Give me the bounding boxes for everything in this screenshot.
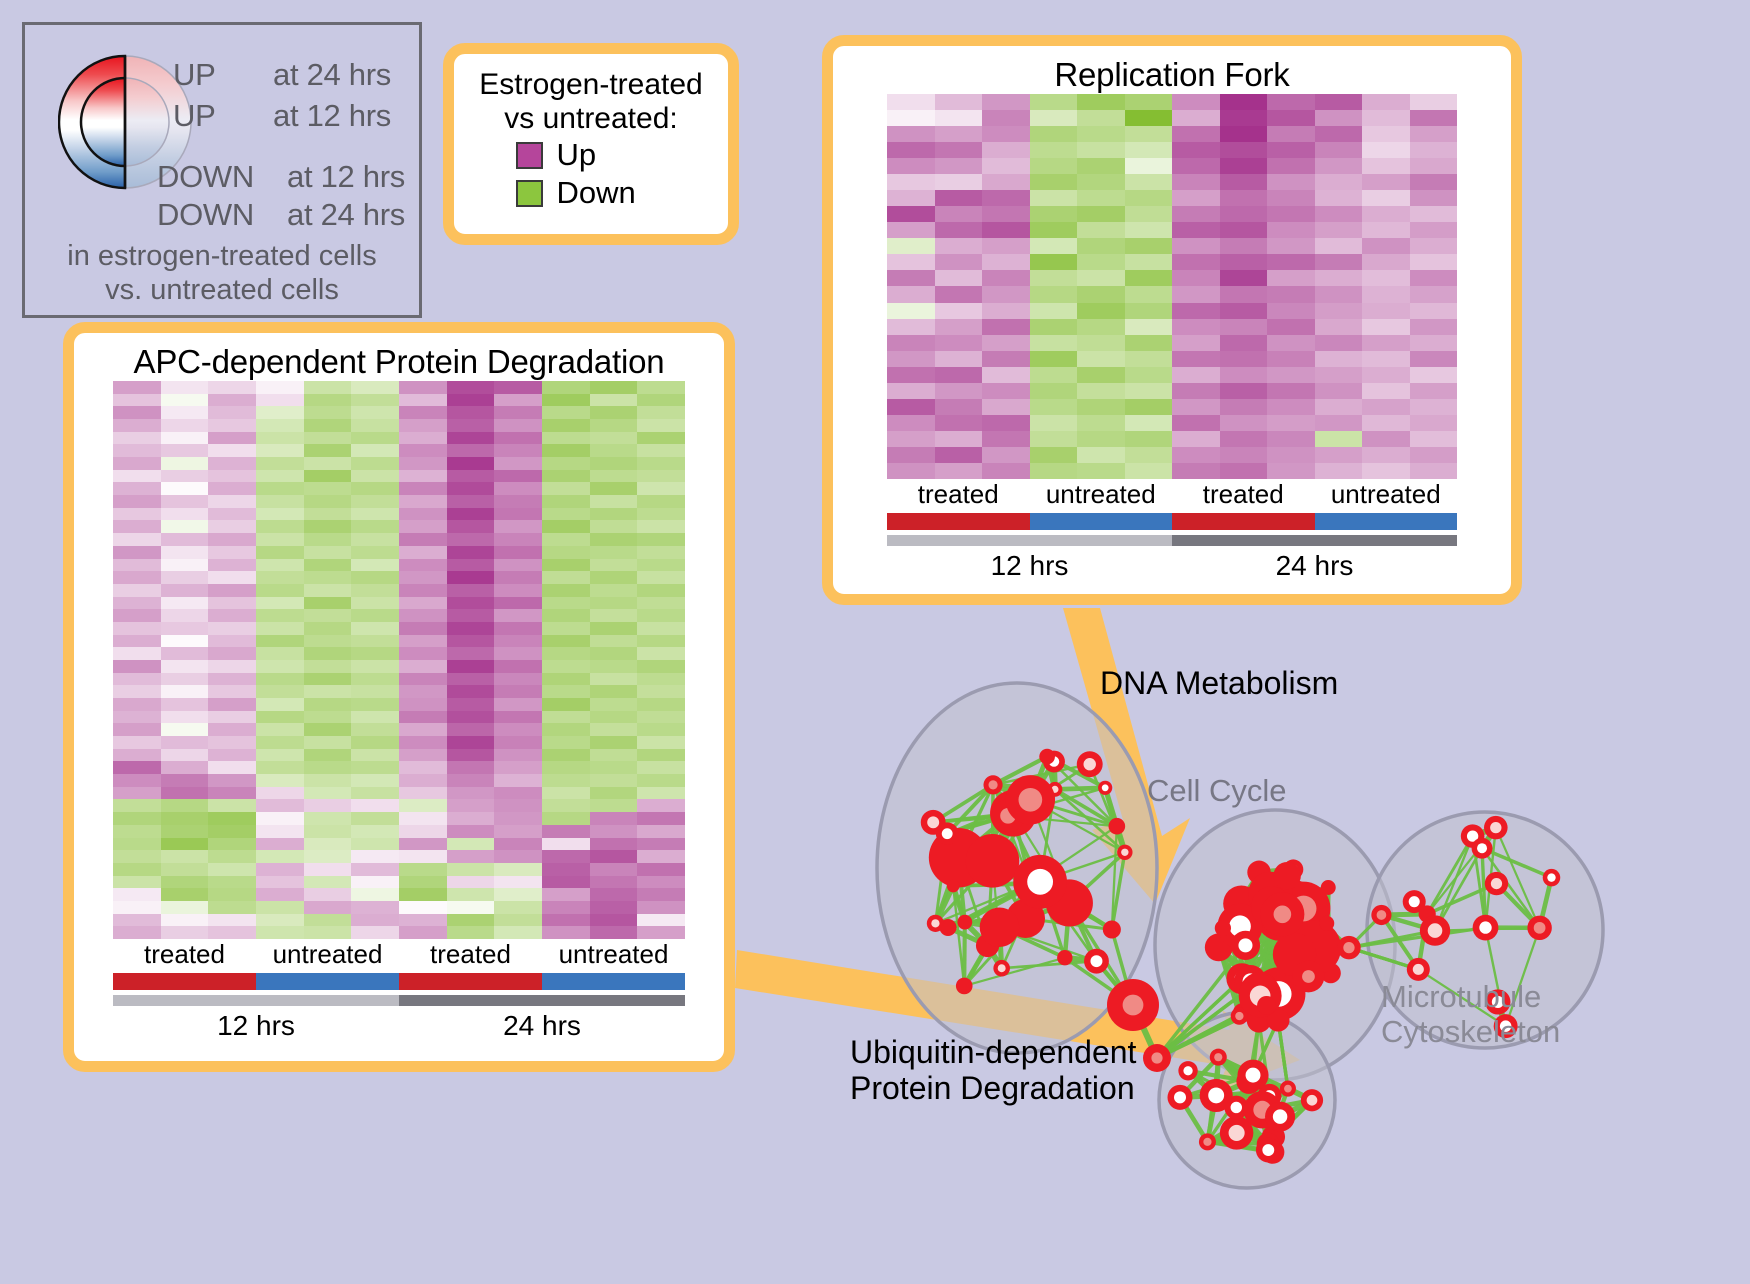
- heatmap-cell: [590, 444, 638, 457]
- heatmap-cell: [542, 571, 590, 584]
- heatmap-cell: [351, 660, 399, 673]
- heatmap-cell: [304, 546, 352, 559]
- heatmap-cell: [1077, 431, 1125, 447]
- heatmap-cell: [590, 711, 638, 724]
- legend-item-up: Up: [454, 137, 728, 173]
- heatmap-cell: [1220, 158, 1268, 174]
- heatmap-cell: [1267, 94, 1315, 110]
- heatmap-cell: [447, 761, 495, 774]
- heatmap-cell: [590, 736, 638, 749]
- heatmap-cell: [1267, 447, 1315, 463]
- heatmap-cell: [935, 190, 983, 206]
- heatmap-cell: [637, 394, 685, 407]
- heatmap-cell: [351, 799, 399, 812]
- heatmap-cell: [1315, 142, 1363, 158]
- heatmap-cell: [113, 749, 161, 762]
- heatmap-cell: [494, 609, 542, 622]
- heatmap-cell: [1362, 238, 1410, 254]
- heatmap-cell: [1172, 415, 1220, 431]
- heatmap-cell: [1315, 303, 1363, 319]
- heatmap-cell: [1125, 367, 1173, 383]
- time-label: 24 hrs: [399, 1010, 685, 1042]
- group-label: untreated: [542, 939, 685, 970]
- heatmap-cell: [1410, 351, 1458, 367]
- heatmap-cell: [494, 520, 542, 533]
- heatmap-cell: [982, 206, 1030, 222]
- heatmap-cell: [399, 457, 447, 470]
- heatmap-cell: [982, 174, 1030, 190]
- heatmap-cell: [351, 495, 399, 508]
- heatmap-cell: [637, 622, 685, 635]
- heatmap-cell: [1172, 463, 1220, 479]
- heatmap-cell: [351, 850, 399, 863]
- heatmap-cell: [590, 926, 638, 939]
- heatmap-cell: [351, 470, 399, 483]
- heatmap-cell: [1315, 319, 1363, 335]
- heatmap-cell: [1267, 206, 1315, 222]
- heatmap-cell: [304, 635, 352, 648]
- heatmap-cell: [161, 926, 209, 939]
- group-label: untreated: [256, 939, 399, 970]
- heatmap-cell: [542, 394, 590, 407]
- heatmap-cell: [590, 394, 638, 407]
- heatmap-cell: [935, 158, 983, 174]
- heatmap-cell: [887, 351, 935, 367]
- heatmap-cell: [1410, 158, 1458, 174]
- heatmap-cell: [351, 926, 399, 939]
- heatmap-cell: [590, 825, 638, 838]
- heatmap-cell: [590, 432, 638, 445]
- heatmap-cell: [494, 406, 542, 419]
- heatmap-cell: [399, 685, 447, 698]
- heatmap-cell: [1125, 351, 1173, 367]
- heatmap-cell: [1030, 383, 1078, 399]
- heatmap-cell: [637, 673, 685, 686]
- heatmap-cell: [304, 381, 352, 394]
- heatmap-cell: [447, 571, 495, 584]
- heatmap-cell: [542, 508, 590, 521]
- heatmap-cell: [399, 876, 447, 889]
- cluster-label-microtubule-cytoskeleton: Microtubule Cytoskeleton: [1381, 980, 1560, 1049]
- heatmap-cell: [113, 926, 161, 939]
- heatmap-cell: [637, 559, 685, 572]
- heatmap-cell: [1315, 206, 1363, 222]
- heatmap-cell: [542, 584, 590, 597]
- heatmap-cell: [256, 838, 304, 851]
- heatmap-cell: [1172, 142, 1220, 158]
- heatmap-cell: [161, 888, 209, 901]
- heatmap-cell: [208, 774, 256, 787]
- heatmap-cell: [542, 381, 590, 394]
- heatmap-cell: [542, 457, 590, 470]
- heatmap-cell: [208, 901, 256, 914]
- heatmap-cell: [542, 520, 590, 533]
- heatmap-cell: [447, 774, 495, 787]
- heatmap-cell: [1315, 110, 1363, 126]
- heatmap-cell: [351, 381, 399, 394]
- heatmap-cell: [542, 482, 590, 495]
- heatmap-cell: [351, 394, 399, 407]
- heatmap-cell: [1172, 190, 1220, 206]
- heatmap-cell: [304, 812, 352, 825]
- ring-label-state-0: UP: [173, 57, 215, 93]
- heatmap-cell: [1125, 206, 1173, 222]
- ring-label-time-0: at 24 hrs: [273, 57, 391, 93]
- heatmap-cell: [1362, 335, 1410, 351]
- heatmap-cell: [1220, 238, 1268, 254]
- heatmap-cell: [399, 394, 447, 407]
- heatmap-cell: [494, 419, 542, 432]
- heatmap-cell: [256, 736, 304, 749]
- heatmap-cell: [1267, 222, 1315, 238]
- heatmap-cell: [208, 571, 256, 584]
- heatmap-cell: [1315, 335, 1363, 351]
- heatmap-cell: [256, 647, 304, 660]
- heatmap-cell: [256, 622, 304, 635]
- ring-label-state-3: DOWN: [157, 197, 254, 233]
- heatmap-cell: [1077, 190, 1125, 206]
- heatmap-cell: [887, 270, 935, 286]
- heatmap-cell: [399, 609, 447, 622]
- heatmap-cell: [161, 470, 209, 483]
- heatmap-cell: [161, 571, 209, 584]
- heatmap-cell: [399, 863, 447, 876]
- heatmap-cell: [494, 673, 542, 686]
- heatmap-cell: [1315, 222, 1363, 238]
- heatmap-cell: [982, 222, 1030, 238]
- heatmap-cell: [1030, 126, 1078, 142]
- ring-label-time-1: at 12 hrs: [273, 98, 391, 134]
- heatmap-cell: [542, 876, 590, 889]
- heatmap-cell: [304, 470, 352, 483]
- heatmap-cell: [161, 546, 209, 559]
- heatmap-cell: [887, 110, 935, 126]
- heatmap-cell: [1362, 206, 1410, 222]
- heatmap-cell: [161, 685, 209, 698]
- heatmap-cell: [542, 838, 590, 851]
- heatmap-cell: [447, 901, 495, 914]
- heatmap-cell: [1077, 447, 1125, 463]
- heatmap-cell: [637, 597, 685, 610]
- heatmap-cell: [887, 158, 935, 174]
- heatmap-cell: [1220, 351, 1268, 367]
- heatmap-cell: [113, 597, 161, 610]
- heatmap-cell: [1077, 110, 1125, 126]
- heatmap-cell: [1172, 399, 1220, 415]
- heatmap-cell: [887, 190, 935, 206]
- heatmap-cell: [935, 270, 983, 286]
- heatmap-cell: [1410, 126, 1458, 142]
- heatmap-cell: [1172, 238, 1220, 254]
- heatmap-cell: [304, 457, 352, 470]
- heatmap-cell: [1030, 110, 1078, 126]
- heatmap-cell: [304, 850, 352, 863]
- heatmap-cell: [447, 622, 495, 635]
- heatmap-cell: [399, 698, 447, 711]
- heatmap-cell: [447, 736, 495, 749]
- heatmap-cell: [256, 432, 304, 445]
- heatmap-cell: [982, 126, 1030, 142]
- heatmap-cell: [935, 142, 983, 158]
- heatmap-cell: [637, 749, 685, 762]
- heatmap-cell: [447, 432, 495, 445]
- time-color-bar: [399, 995, 685, 1006]
- heatmap-cell: [935, 335, 983, 351]
- heatmap-cell: [1220, 174, 1268, 190]
- heatmap-cell: [1220, 94, 1268, 110]
- heatmap-cell: [494, 482, 542, 495]
- heatmap-cell: [1315, 270, 1363, 286]
- heatmap-cell: [887, 238, 935, 254]
- heatmap-cell: [351, 901, 399, 914]
- heatmap-cell: [208, 914, 256, 927]
- heatmap-cell: [351, 825, 399, 838]
- heatmap-cell: [887, 174, 935, 190]
- heatmap-cell: [542, 635, 590, 648]
- heatmap-cell: [542, 850, 590, 863]
- heatmap-cell: [351, 419, 399, 432]
- heatmap-cell: [637, 901, 685, 914]
- heatmap-cell: [1077, 254, 1125, 270]
- ring-label-state-1: UP: [173, 98, 215, 134]
- heatmap-cell: [542, 825, 590, 838]
- heatmap-cell: [1267, 431, 1315, 447]
- heatmap-cell: [304, 774, 352, 787]
- heatmap-cell: [887, 335, 935, 351]
- heatmap-cell: [161, 597, 209, 610]
- heatmap-cell: [447, 787, 495, 800]
- heatmap-cell: [351, 914, 399, 927]
- heatmap-cell: [113, 673, 161, 686]
- heatmap-cell: [637, 381, 685, 394]
- heatmap-cell: [208, 622, 256, 635]
- heatmap-cell: [935, 206, 983, 222]
- heatmap-cell: [256, 812, 304, 825]
- heatmap-cell: [161, 609, 209, 622]
- heatmap-cell: [1315, 190, 1363, 206]
- heatmap-cell: [494, 394, 542, 407]
- heatmap-cell: [494, 698, 542, 711]
- heatmap-cell: [351, 546, 399, 559]
- network-svg: [795, 610, 1750, 1279]
- heatmap-cell: [1267, 367, 1315, 383]
- heatmap-cell: [590, 850, 638, 863]
- heatmap-cell: [494, 888, 542, 901]
- heatmap-cell: [161, 901, 209, 914]
- heatmap-cell: [542, 622, 590, 635]
- heatmap-cell: [208, 838, 256, 851]
- heatmap-cell: [351, 761, 399, 774]
- heatmap-cell: [1125, 238, 1173, 254]
- axis-apc: treated untreated treated untreated 12 h…: [113, 939, 685, 1042]
- heatmap-cell: [208, 432, 256, 445]
- heatmap-cell: [256, 761, 304, 774]
- heatmap-cell: [399, 799, 447, 812]
- group-label-row: treated untreated treated untreated: [887, 479, 1457, 510]
- heatmap-cell: [1220, 463, 1268, 479]
- heatmap-cell: [447, 559, 495, 572]
- heatmap-cell: [637, 787, 685, 800]
- heatmap-cell: [208, 761, 256, 774]
- heatmap-cell: [542, 533, 590, 546]
- heatmap-cell: [1410, 174, 1458, 190]
- heatmap-cell: [1315, 415, 1363, 431]
- heatmap-cell: [542, 711, 590, 724]
- heatmap-cell: [304, 609, 352, 622]
- heatmap-cell: [351, 736, 399, 749]
- heatmap-cell: [935, 383, 983, 399]
- heatmap-cell: [161, 660, 209, 673]
- heatmap-cell: [935, 126, 983, 142]
- heatmap-cell: [590, 774, 638, 787]
- heatmap-cell: [494, 812, 542, 825]
- heatmap-cell: [1362, 254, 1410, 270]
- heatmap-cell: [351, 406, 399, 419]
- heatmap-cell: [1030, 351, 1078, 367]
- heatmap-cell: [1410, 303, 1458, 319]
- cluster-label-line1: Ubiquitin-dependent: [850, 1035, 1136, 1071]
- heatmap-cell: [982, 367, 1030, 383]
- heatmap-cell: [542, 406, 590, 419]
- heatmap-cell: [1267, 126, 1315, 142]
- heatmap-cell: [1362, 383, 1410, 399]
- heatmap-cell: [351, 533, 399, 546]
- heatmap-cell: [1077, 463, 1125, 479]
- heatmap-cell: [494, 546, 542, 559]
- heatmap-cell: [208, 559, 256, 572]
- heatmap-cell: [161, 711, 209, 724]
- heatmap-cell: [1220, 335, 1268, 351]
- heatmap-cell: [1125, 222, 1173, 238]
- heatmap-cell: [1267, 399, 1315, 415]
- heatmap-cell: [494, 774, 542, 787]
- time-color-bar-row: [887, 535, 1457, 546]
- heatmap-cell: [351, 812, 399, 825]
- heatmap-cell: [494, 470, 542, 483]
- heatmap-cell: [256, 457, 304, 470]
- heatmap-cell: [304, 838, 352, 851]
- heatmap-cell: [1220, 383, 1268, 399]
- heatmap-cell: [304, 711, 352, 724]
- heatmap-cell: [161, 635, 209, 648]
- heatmap-cell: [494, 457, 542, 470]
- time-label: 24 hrs: [1172, 550, 1457, 582]
- heatmap-cell: [399, 838, 447, 851]
- heatmap-cell: [399, 533, 447, 546]
- heatmap-cell: [447, 825, 495, 838]
- heatmap-cell: [256, 533, 304, 546]
- heatmap-cell: [447, 520, 495, 533]
- heatmap-cell: [590, 812, 638, 825]
- group-label: treated: [1172, 479, 1315, 510]
- heatmap-cell: [447, 470, 495, 483]
- heatmap-cell: [542, 660, 590, 673]
- heatmap-cell: [161, 876, 209, 889]
- heatmap-cell: [447, 660, 495, 673]
- heatmap-cell: [304, 571, 352, 584]
- heatmap-cell: [256, 825, 304, 838]
- heatmap-cell: [1030, 415, 1078, 431]
- heatmap-cell: [208, 495, 256, 508]
- heatmap-cell: [399, 888, 447, 901]
- heatmap-cell: [1362, 415, 1410, 431]
- heatmap-cell: [887, 367, 935, 383]
- heatmap-cell: [1315, 367, 1363, 383]
- heatmap-cell: [256, 597, 304, 610]
- heatmap-cell: [113, 850, 161, 863]
- heatmap-cell: [256, 381, 304, 394]
- time-label-row: 12 hrs 24 hrs: [887, 550, 1457, 582]
- heatmap-cell: [1315, 447, 1363, 463]
- heatmap-cell: [1362, 399, 1410, 415]
- heatmap-cell: [494, 444, 542, 457]
- heatmap-cell: [304, 876, 352, 889]
- heatmap-cell: [399, 419, 447, 432]
- heatmap-cell: [161, 914, 209, 927]
- heatmap-cell: [1077, 126, 1125, 142]
- heatmap-cell: [161, 406, 209, 419]
- heatmap-cell: [208, 406, 256, 419]
- heatmap-cell: [1410, 222, 1458, 238]
- heatmap-cell: [447, 812, 495, 825]
- heatmap-cell: [399, 711, 447, 724]
- heatmap-cell: [399, 559, 447, 572]
- heatmap-cell: [1172, 383, 1220, 399]
- heatmap-cell: [1410, 190, 1458, 206]
- heatmap-cell: [161, 749, 209, 762]
- heatmap-cell: [113, 584, 161, 597]
- heatmap-cell: [1030, 286, 1078, 302]
- heatmap-cell: [256, 609, 304, 622]
- heatmap-cell: [1362, 190, 1410, 206]
- heatmap-cell: [1410, 254, 1458, 270]
- heatmap-cell: [935, 319, 983, 335]
- heatmap-cell: [1030, 367, 1078, 383]
- heatmap-cell: [935, 351, 983, 367]
- heatmap-cell: [1315, 158, 1363, 174]
- heatmap-cell: [161, 559, 209, 572]
- heatmap-cell: [542, 926, 590, 939]
- heatmap-cell: [1410, 110, 1458, 126]
- heatmap-cell: [256, 495, 304, 508]
- heatmap-cell: [304, 559, 352, 572]
- heatmap-cell: [542, 863, 590, 876]
- heatmap-cell: [1125, 447, 1173, 463]
- heatmap-cell: [113, 660, 161, 673]
- heatmap-cell: [494, 876, 542, 889]
- heatmap-cell: [304, 394, 352, 407]
- heatmap-cell: [208, 660, 256, 673]
- cluster-label-line2: Protein Degradation: [850, 1071, 1136, 1107]
- heatmap-cell: [304, 508, 352, 521]
- heatmap-cell: [887, 415, 935, 431]
- heatmap-cell: [351, 888, 399, 901]
- heatmap-cell: [1410, 270, 1458, 286]
- heatmap-cell: [447, 609, 495, 622]
- heatmap-cell: [351, 457, 399, 470]
- heatmap-cell: [637, 698, 685, 711]
- heatmap-cell: [399, 812, 447, 825]
- heatmap-cell: [447, 597, 495, 610]
- cluster-label-line2: Cytoskeleton: [1381, 1015, 1560, 1050]
- heatmap-cell: [256, 406, 304, 419]
- heatmap-cell: [208, 812, 256, 825]
- heatmap-cell: [256, 584, 304, 597]
- heatmap-cell: [113, 761, 161, 774]
- heatmap-cell: [399, 723, 447, 736]
- heatmap-cell: [351, 520, 399, 533]
- heatmap-cell: [399, 495, 447, 508]
